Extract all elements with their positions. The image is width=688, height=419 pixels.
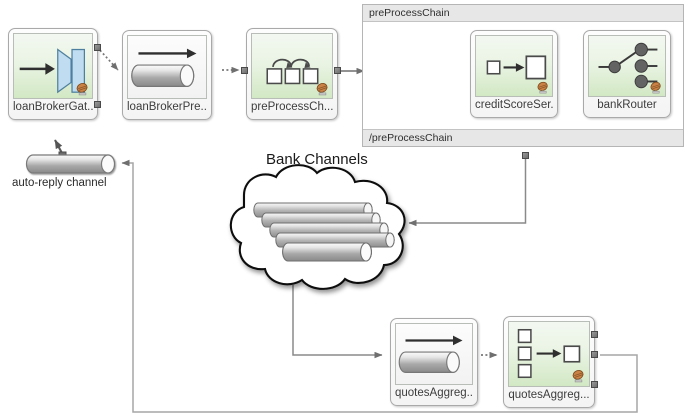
node-quotesaggregator-port-right[interactable] — [591, 351, 598, 358]
group-output-port[interactable] — [522, 152, 529, 159]
node-quotesaggregator[interactable]: quotesAggreg... — [503, 316, 595, 408]
node-loanbrokergateway-port-top[interactable] — [94, 44, 101, 51]
bean-icon — [74, 81, 91, 98]
node-preprocesschain-port-left[interactable] — [241, 67, 248, 74]
connector-router-to-cloud — [409, 157, 526, 223]
node-bankrouter[interactable]: bankRouter — [583, 30, 671, 118]
pipe-icon — [127, 35, 207, 99]
node-label: quotesAggreg... — [508, 387, 590, 403]
node-preprocesschain[interactable]: preProcessCh... — [246, 28, 338, 120]
gateway-icon — [13, 33, 93, 99]
node-loanbrokerpre-channel[interactable]: loanBrokerPre... — [122, 30, 212, 120]
node-preprocesschain-port-right[interactable] — [334, 67, 341, 74]
bean-icon — [314, 81, 331, 98]
auto-reply-channel-label: auto-reply channel — [12, 177, 107, 189]
node-loanbrokergateway[interactable]: loanBrokerGat... — [8, 28, 98, 120]
pipe-icon — [395, 323, 473, 385]
node-quotesaggregator-channel[interactable]: quotesAggreg... — [390, 318, 478, 406]
translator-icon — [475, 35, 553, 97]
bean-icon — [648, 80, 664, 96]
node-label: creditScoreSer... — [475, 97, 553, 113]
chain-icon — [251, 33, 333, 99]
node-label: loanBrokerPre... — [127, 99, 207, 115]
node-quotesaggregator-port-bottomright[interactable] — [591, 381, 598, 388]
node-label: quotesAggreg... — [395, 385, 473, 401]
bean-icon — [570, 368, 587, 385]
group-header-label: preProcessChain — [363, 5, 683, 22]
connector-cloud-to-aggregator-channel — [293, 285, 382, 355]
node-loanbrokergateway-port-bottom[interactable] — [94, 101, 101, 108]
router-icon — [588, 35, 666, 97]
cloud-label: Bank Channels — [266, 151, 368, 168]
group-footer-label: /preProcessChain — [363, 129, 683, 146]
node-label: bankRouter — [588, 97, 666, 113]
auto-reply-channel-pipe-icon — [27, 155, 115, 173]
bean-icon — [535, 80, 551, 96]
node-label: loanBrokerGat... — [13, 99, 93, 115]
aggregator-icon — [508, 321, 590, 387]
node-creditscoreservice[interactable]: creditScoreSer... — [470, 30, 558, 118]
node-quotesaggregator-port-topright[interactable] — [591, 331, 598, 338]
bank-channels-cloud — [231, 165, 405, 289]
node-label: preProcessCh... — [251, 99, 333, 115]
diagram-canvas: preProcessChain /preProcessChain loanBro… — [0, 0, 688, 419]
